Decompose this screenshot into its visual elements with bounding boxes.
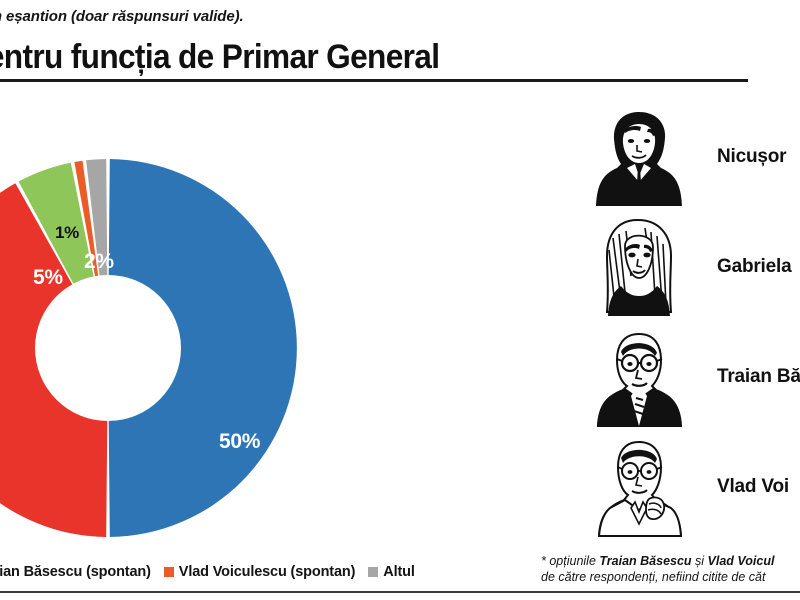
footnote: * opțiunile Traian Băsescu și Vlad Voicu… [541,553,800,585]
candidate-name: Gabriela [717,256,791,278]
slice-label-nicusor-dan: 50% [219,430,260,454]
legend-item-label: Traian Băsescu (spontan) [0,564,151,580]
portrait-vlad-voiculescu [591,434,687,542]
footnote-bold-basescu: Traian Băsescu [599,554,691,568]
candidate-row: Traian Bă [583,324,800,434]
legend-item-label: Vlad Voiculescu (spontan) [179,564,355,580]
footnote-line-1: * opțiunile Traian Băsescu și Vlad Voicu… [541,553,800,569]
legend-swatch-icon [164,567,174,577]
header: 70% din eșantion (doar răspunsuri valide… [0,0,800,86]
slice-label-altul: 2% [84,250,114,274]
bottom-separator [0,591,800,593]
title-underline [0,79,748,82]
footnote-bold-voiculescu: Vlad Voicul [708,554,775,568]
portrait-gabriela-firea [591,214,687,322]
candidate-name: Traian Bă [717,366,800,388]
footnote-prefix: * opțiunile [541,554,599,568]
slice-label-traian-basescu: 5% [33,266,63,290]
footnote-line-2: de către respondenți, nefiind citite de … [541,569,800,585]
legend-swatch-icon [368,567,378,577]
candidate-name: Nicușor [717,146,786,168]
chart-legend: FireaTraian Băsescu (spontan)Vlad Voicul… [0,561,428,583]
candidate-row: Vlad Voi [583,434,800,544]
legend-item[interactable]: Vlad Voiculescu (spontan) [164,564,355,580]
candidate-name: Vlad Voi [717,476,789,498]
candidate-list: Nicușor Gabriela Traian Bă [583,104,800,544]
donut-graphic [0,158,298,538]
legend-item-label: Altul [383,564,414,580]
page-title: ii preferați pentru funcția de Primar Ge… [0,38,708,77]
donut-hole [35,275,181,421]
footnote-conjunction: și [692,554,708,568]
portrait-gabriela-firea-svg [591,214,687,322]
portrait-nicusor-dan-svg [591,104,687,212]
candidate-row: Gabriela [583,214,800,324]
portrait-nicusor-dan [591,104,687,212]
donut-svg [0,158,298,538]
subtitle: 70% din eșantion (doar răspunsuri valide… [0,8,646,25]
portrait-vlad-voiculescu-svg [591,434,687,542]
legend-item[interactable]: Traian Băsescu (spontan) [0,564,151,580]
portrait-traian-basescu-svg [591,324,687,432]
slice-label-vlad-voiculescu: 1% [55,223,79,243]
portrait-traian-basescu [591,324,687,432]
donut-chart: 50% 5% 2% 1% [0,95,430,545]
legend-item[interactable]: Altul [368,564,414,580]
candidate-row: Nicușor [583,104,800,214]
